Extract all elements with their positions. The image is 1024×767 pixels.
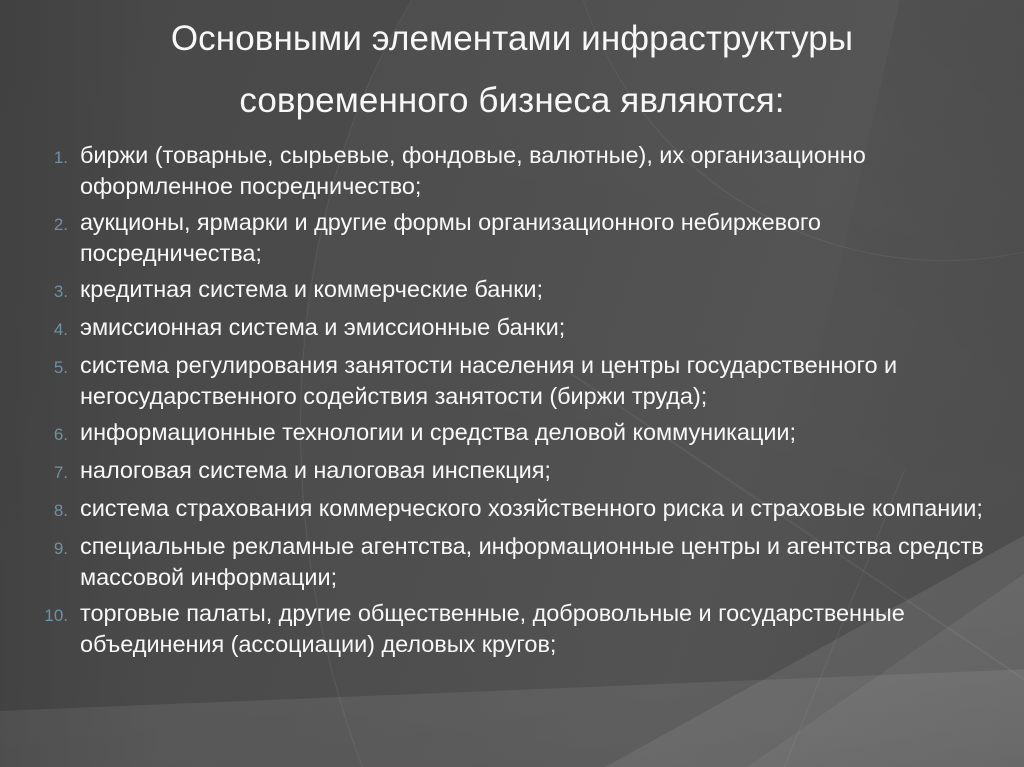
list-item-number: 3. (14, 274, 68, 307)
list-item-number: 6. (14, 417, 68, 450)
list-item-text: эмиссионная система и эмиссионные банки; (68, 312, 1010, 343)
list-item-4: 4. эмиссионная система и эмиссионные бан… (0, 312, 1024, 345)
list-item-7: 7. налоговая система и налоговая инспекц… (0, 455, 1024, 488)
list-item-number: 7. (14, 455, 68, 488)
list-item-text: информационные технологии и средства дел… (68, 417, 1010, 448)
list-item-number: 5. (14, 350, 68, 383)
list-item-5: 5. система регулирования занятости насел… (0, 350, 1024, 412)
list-item-number: 10. (14, 598, 68, 631)
list-item-8: 8. система страхования коммерческого хоз… (0, 493, 1024, 526)
list-item-9: 9. специальные рекламные агентства, инфо… (0, 531, 1024, 593)
list-item-6: 6. информационные технологии и средства … (0, 417, 1024, 450)
list-item-text: налоговая система и налоговая инспекция; (68, 455, 1010, 486)
list-item-text: биржи (товарные, сырьевые, фондовые, вал… (68, 140, 1010, 202)
presentation-slide: Основными элементами инфраструктуры совр… (0, 0, 1024, 767)
list-item-10: 10. торговые палаты, другие общественные… (0, 598, 1024, 660)
list-item-number: 1. (14, 140, 68, 173)
numbered-list: 1. биржи (товарные, сырьевые, фондовые, … (0, 140, 1024, 665)
list-item-text: система регулирования занятости населени… (68, 350, 1010, 412)
list-item-text: аукционы, ярмарки и другие формы организ… (68, 207, 1010, 269)
list-item-2: 2. аукционы, ярмарки и другие формы орга… (0, 207, 1024, 269)
list-item-1: 1. биржи (товарные, сырьевые, фондовые, … (0, 140, 1024, 202)
list-item-3: 3. кредитная система и коммерческие банк… (0, 274, 1024, 307)
list-item-text: торговые палаты, другие общественные, до… (68, 598, 1010, 660)
slide-title-line-1: Основными элементами инфраструктуры (60, 8, 964, 70)
slide-title: Основными элементами инфраструктуры совр… (60, 8, 964, 132)
slide-title-line-2: современного бизнеса являются: (60, 70, 964, 132)
list-item-text: система страхования коммерческого хозяйс… (68, 493, 1010, 524)
list-item-number: 2. (14, 207, 68, 240)
list-item-number: 4. (14, 312, 68, 345)
list-item-text: специальные рекламные агентства, информа… (68, 531, 1010, 593)
list-item-number: 9. (14, 531, 68, 564)
list-item-number: 8. (14, 493, 68, 526)
list-item-text: кредитная система и коммерческие банки; (68, 274, 1010, 305)
